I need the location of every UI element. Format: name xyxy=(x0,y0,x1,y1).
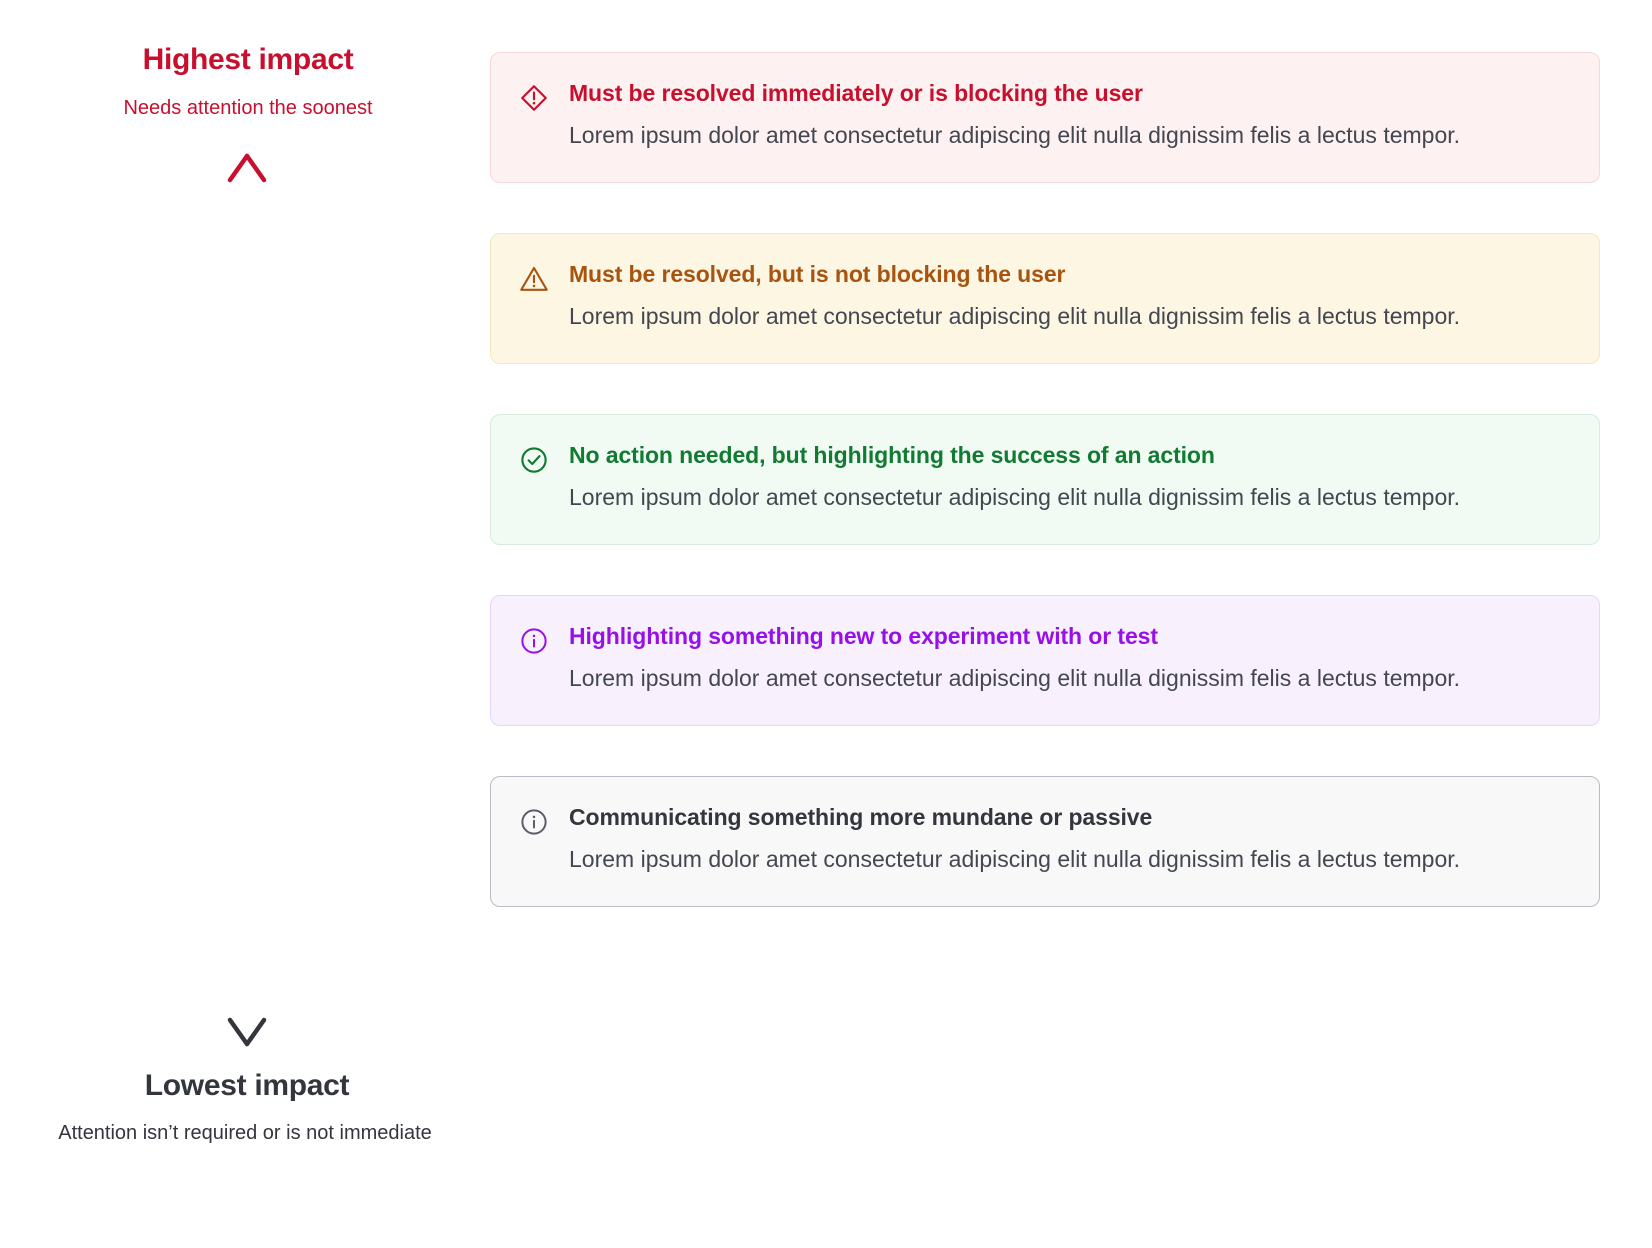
info-circle-icon xyxy=(519,626,549,656)
alert-title: Highlighting something new to experiment… xyxy=(569,622,1571,651)
alert-card-neutral: Communicating something more mundane or … xyxy=(490,776,1600,907)
alert-description: Lorem ipsum dolor amet consectetur adipi… xyxy=(569,298,1469,335)
alert-card-critical: Must be resolved immediately or is block… xyxy=(490,52,1600,183)
alert-title: Communicating something more mundane or … xyxy=(569,803,1571,832)
alert-body: Must be resolved, but is not blocking th… xyxy=(569,260,1571,335)
diamond-exclamation-icon xyxy=(519,83,549,113)
lowest-impact-label: Lowest impact xyxy=(145,1068,349,1104)
alert-description: Lorem ipsum dolor amet consectetur adipi… xyxy=(569,660,1469,697)
alert-description: Lorem ipsum dolor amet consectetur adipi… xyxy=(569,117,1469,154)
impact-scale-column: Highest impact Needs attention the soone… xyxy=(0,0,490,1248)
info-circle-icon xyxy=(519,807,549,837)
impact-gradient-arrow xyxy=(217,150,277,1050)
alert-card-success: No action needed, but highlighting the s… xyxy=(490,414,1600,545)
alert-title: No action needed, but highlighting the s… xyxy=(569,441,1571,470)
triangle-exclamation-icon xyxy=(519,264,549,294)
alert-description: Lorem ipsum dolor amet consectetur adipi… xyxy=(569,841,1469,878)
alert-title: Must be resolved immediately or is block… xyxy=(569,79,1571,108)
gradient-arrow-svg xyxy=(217,150,277,1050)
check-circle-icon xyxy=(519,445,549,475)
highest-impact-sublabel: Needs attention the soonest xyxy=(123,96,372,120)
highest-impact-label: Highest impact xyxy=(143,42,354,78)
alert-body: Highlighting something new to experiment… xyxy=(569,622,1571,697)
alert-description: Lorem ipsum dolor amet consectetur adipi… xyxy=(569,479,1469,516)
alert-card-warning: Must be resolved, but is not blocking th… xyxy=(490,233,1600,364)
alert-card-info: Highlighting something new to experiment… xyxy=(490,595,1600,726)
alert-title: Must be resolved, but is not blocking th… xyxy=(569,260,1571,289)
alert-body: Must be resolved immediately or is block… xyxy=(569,79,1571,154)
impact-scale-page: Highest impact Needs attention the soone… xyxy=(0,0,1652,1248)
lowest-impact-sublabel: Attention isn’t required or is not immed… xyxy=(58,1121,432,1145)
alert-body: Communicating something more mundane or … xyxy=(569,803,1571,878)
alert-cards-column: Must be resolved immediately or is block… xyxy=(490,0,1652,1248)
alert-body: No action needed, but highlighting the s… xyxy=(569,441,1571,516)
